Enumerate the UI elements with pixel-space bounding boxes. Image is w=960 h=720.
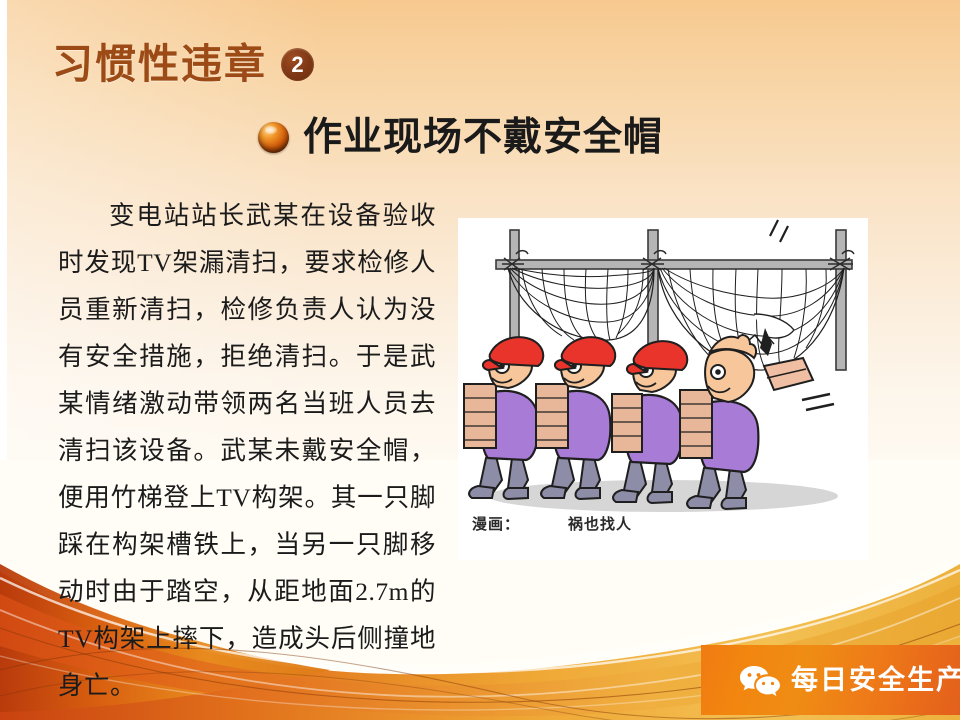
case-description-text: 变电站站长武某在设备验收时发现TV架漏清扫，要求检修人员重新清扫，检修负责人认为… bbox=[58, 192, 436, 709]
net-tear-flap bbox=[754, 314, 794, 338]
slide-header: 习惯性违章 2 作业现场不戴安全帽 bbox=[0, 0, 960, 180]
page-title: 习惯性违章 bbox=[52, 44, 267, 85]
slide-canvas: 习惯性违章 2 作业现场不戴安全帽 变电站站长武某在设备验收时发现TV架漏清扫，… bbox=[0, 0, 960, 720]
cartoon-illustration bbox=[458, 218, 868, 560]
brick-speed-lines bbox=[802, 394, 834, 410]
caption-value: 祸也找人 bbox=[568, 513, 632, 534]
watermark-text: 每日安全生产 bbox=[791, 667, 960, 694]
page-subtitle: 作业现场不戴安全帽 bbox=[303, 118, 663, 157]
worker-with-helmet-1 bbox=[464, 337, 543, 499]
impact-motion-lines bbox=[770, 220, 788, 242]
subtitle-row: 作业现场不戴安全帽 bbox=[258, 118, 663, 157]
worker-with-helmet-2 bbox=[536, 337, 615, 499]
illustration-caption: 漫画： 祸也找人 bbox=[472, 513, 852, 534]
safety-helmet bbox=[562, 337, 616, 366]
caption-label: 漫画： bbox=[472, 513, 568, 534]
safety-helmet bbox=[490, 337, 544, 366]
worker-with-helmet-3 bbox=[612, 341, 687, 503]
scaffold-beam bbox=[496, 260, 852, 269]
illustration-panel: 漫画： 祸也找人 bbox=[458, 218, 868, 560]
safety-helmet bbox=[634, 341, 688, 370]
wechat-icon bbox=[739, 664, 781, 696]
watermark-bar: 每日安全生产 bbox=[701, 645, 960, 715]
safety-net-left bbox=[508, 268, 654, 341]
section-number-badge: 2 bbox=[281, 48, 314, 81]
title-row: 习惯性违章 2 bbox=[52, 44, 314, 85]
sphere-bullet-icon bbox=[258, 122, 289, 153]
